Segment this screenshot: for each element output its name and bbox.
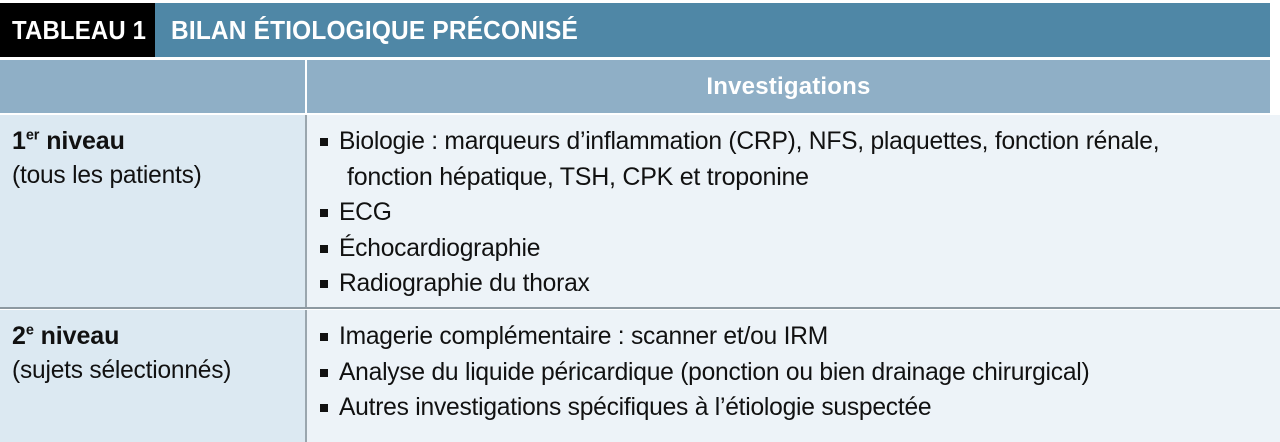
level-note-label: (tous les patients) (12, 159, 202, 191)
table-figure: TABLEAU 1 BILAN ÉTIOLOGIQUE PRÉCONISÉ In… (0, 0, 1280, 442)
square-bullet-icon (320, 245, 328, 253)
list-item: Imagerie complémentaire : scanner et/ou … (319, 319, 1280, 355)
list-item: Autres investigations spécifiques à l’ét… (319, 390, 1280, 426)
list-item: Biologie : marqueurs d’inflammation (CRP… (319, 124, 1280, 195)
list-item-text: Échocardiographie (339, 231, 540, 267)
square-bullet-icon (320, 369, 328, 377)
level-note: (tous les patients) (12, 159, 305, 191)
table-header-band: Investigations (0, 60, 1270, 113)
table-row: 1er niveau (tous les patients) Biologie … (0, 115, 1280, 307)
level-number: 2 (12, 322, 26, 350)
table-row: 2e niveau (sujets sélectionnés) Imagerie… (0, 310, 1280, 442)
table-title-label: BILAN ÉTIOLOGIQUE PRÉCONISÉ (171, 15, 578, 46)
list-item-text: Radiographie du thorax (339, 266, 590, 302)
table-title-bar: TABLEAU 1 BILAN ÉTIOLOGIQUE PRÉCONISÉ (0, 3, 1270, 57)
table-title: BILAN ÉTIOLOGIQUE PRÉCONISÉ (155, 3, 604, 57)
level-note-label: (sujets sélectionnés) (12, 354, 231, 386)
list-item-text: Imagerie complémentaire : scanner et/ou … (339, 319, 828, 355)
list-item: Échocardiographie (319, 231, 1280, 267)
list-item-text: Analyse du liquide péricardique (ponctio… (339, 355, 1089, 391)
list-item: ECG (319, 195, 1280, 231)
list-item-text: ECG (339, 195, 392, 231)
investigations-list: Biologie : marqueurs d’inflammation (CRP… (319, 124, 1280, 302)
square-bullet-icon (320, 404, 328, 412)
level-word: niveau (46, 127, 125, 155)
investigations-list: Imagerie complémentaire : scanner et/ou … (319, 319, 1280, 426)
square-bullet-icon (320, 280, 328, 288)
list-item: Radiographie du thorax (319, 266, 1280, 302)
level-ordinal-suffix: er (26, 128, 40, 144)
row-separator (0, 307, 1280, 309)
level-word: niveau (41, 322, 120, 350)
square-bullet-icon (320, 209, 328, 217)
level-number: 1 (12, 127, 26, 155)
level-title: 1er niveau (12, 125, 305, 157)
level-title: 2e niveau (12, 320, 305, 352)
investigations-cell: Imagerie complémentaire : scanner et/ou … (305, 310, 1280, 442)
level-cell: 1er niveau (tous les patients) (0, 115, 305, 307)
level-ordinal-suffix: e (26, 323, 34, 339)
list-item-text: Biologie : marqueurs d’inflammation (CRP… (339, 124, 1159, 160)
level-note: (sujets sélectionnés) (12, 354, 305, 386)
square-bullet-icon (320, 138, 328, 146)
list-item-text: Autres investigations spécifiques à l’ét… (339, 390, 931, 426)
table-number-label: TABLEAU 1 (12, 15, 146, 46)
square-bullet-icon (320, 333, 328, 341)
table-number-tag: TABLEAU 1 (0, 3, 155, 57)
list-item: Analyse du liquide péricardique (ponctio… (319, 355, 1280, 391)
list-item-text-continued: fonction hépatique, TSH, CPK et troponin… (339, 160, 1280, 196)
column-header-investigations: Investigations (307, 60, 1270, 113)
investigations-cell: Biologie : marqueurs d’inflammation (CRP… (305, 115, 1280, 307)
level-cell: 2e niveau (sujets sélectionnés) (0, 310, 305, 442)
